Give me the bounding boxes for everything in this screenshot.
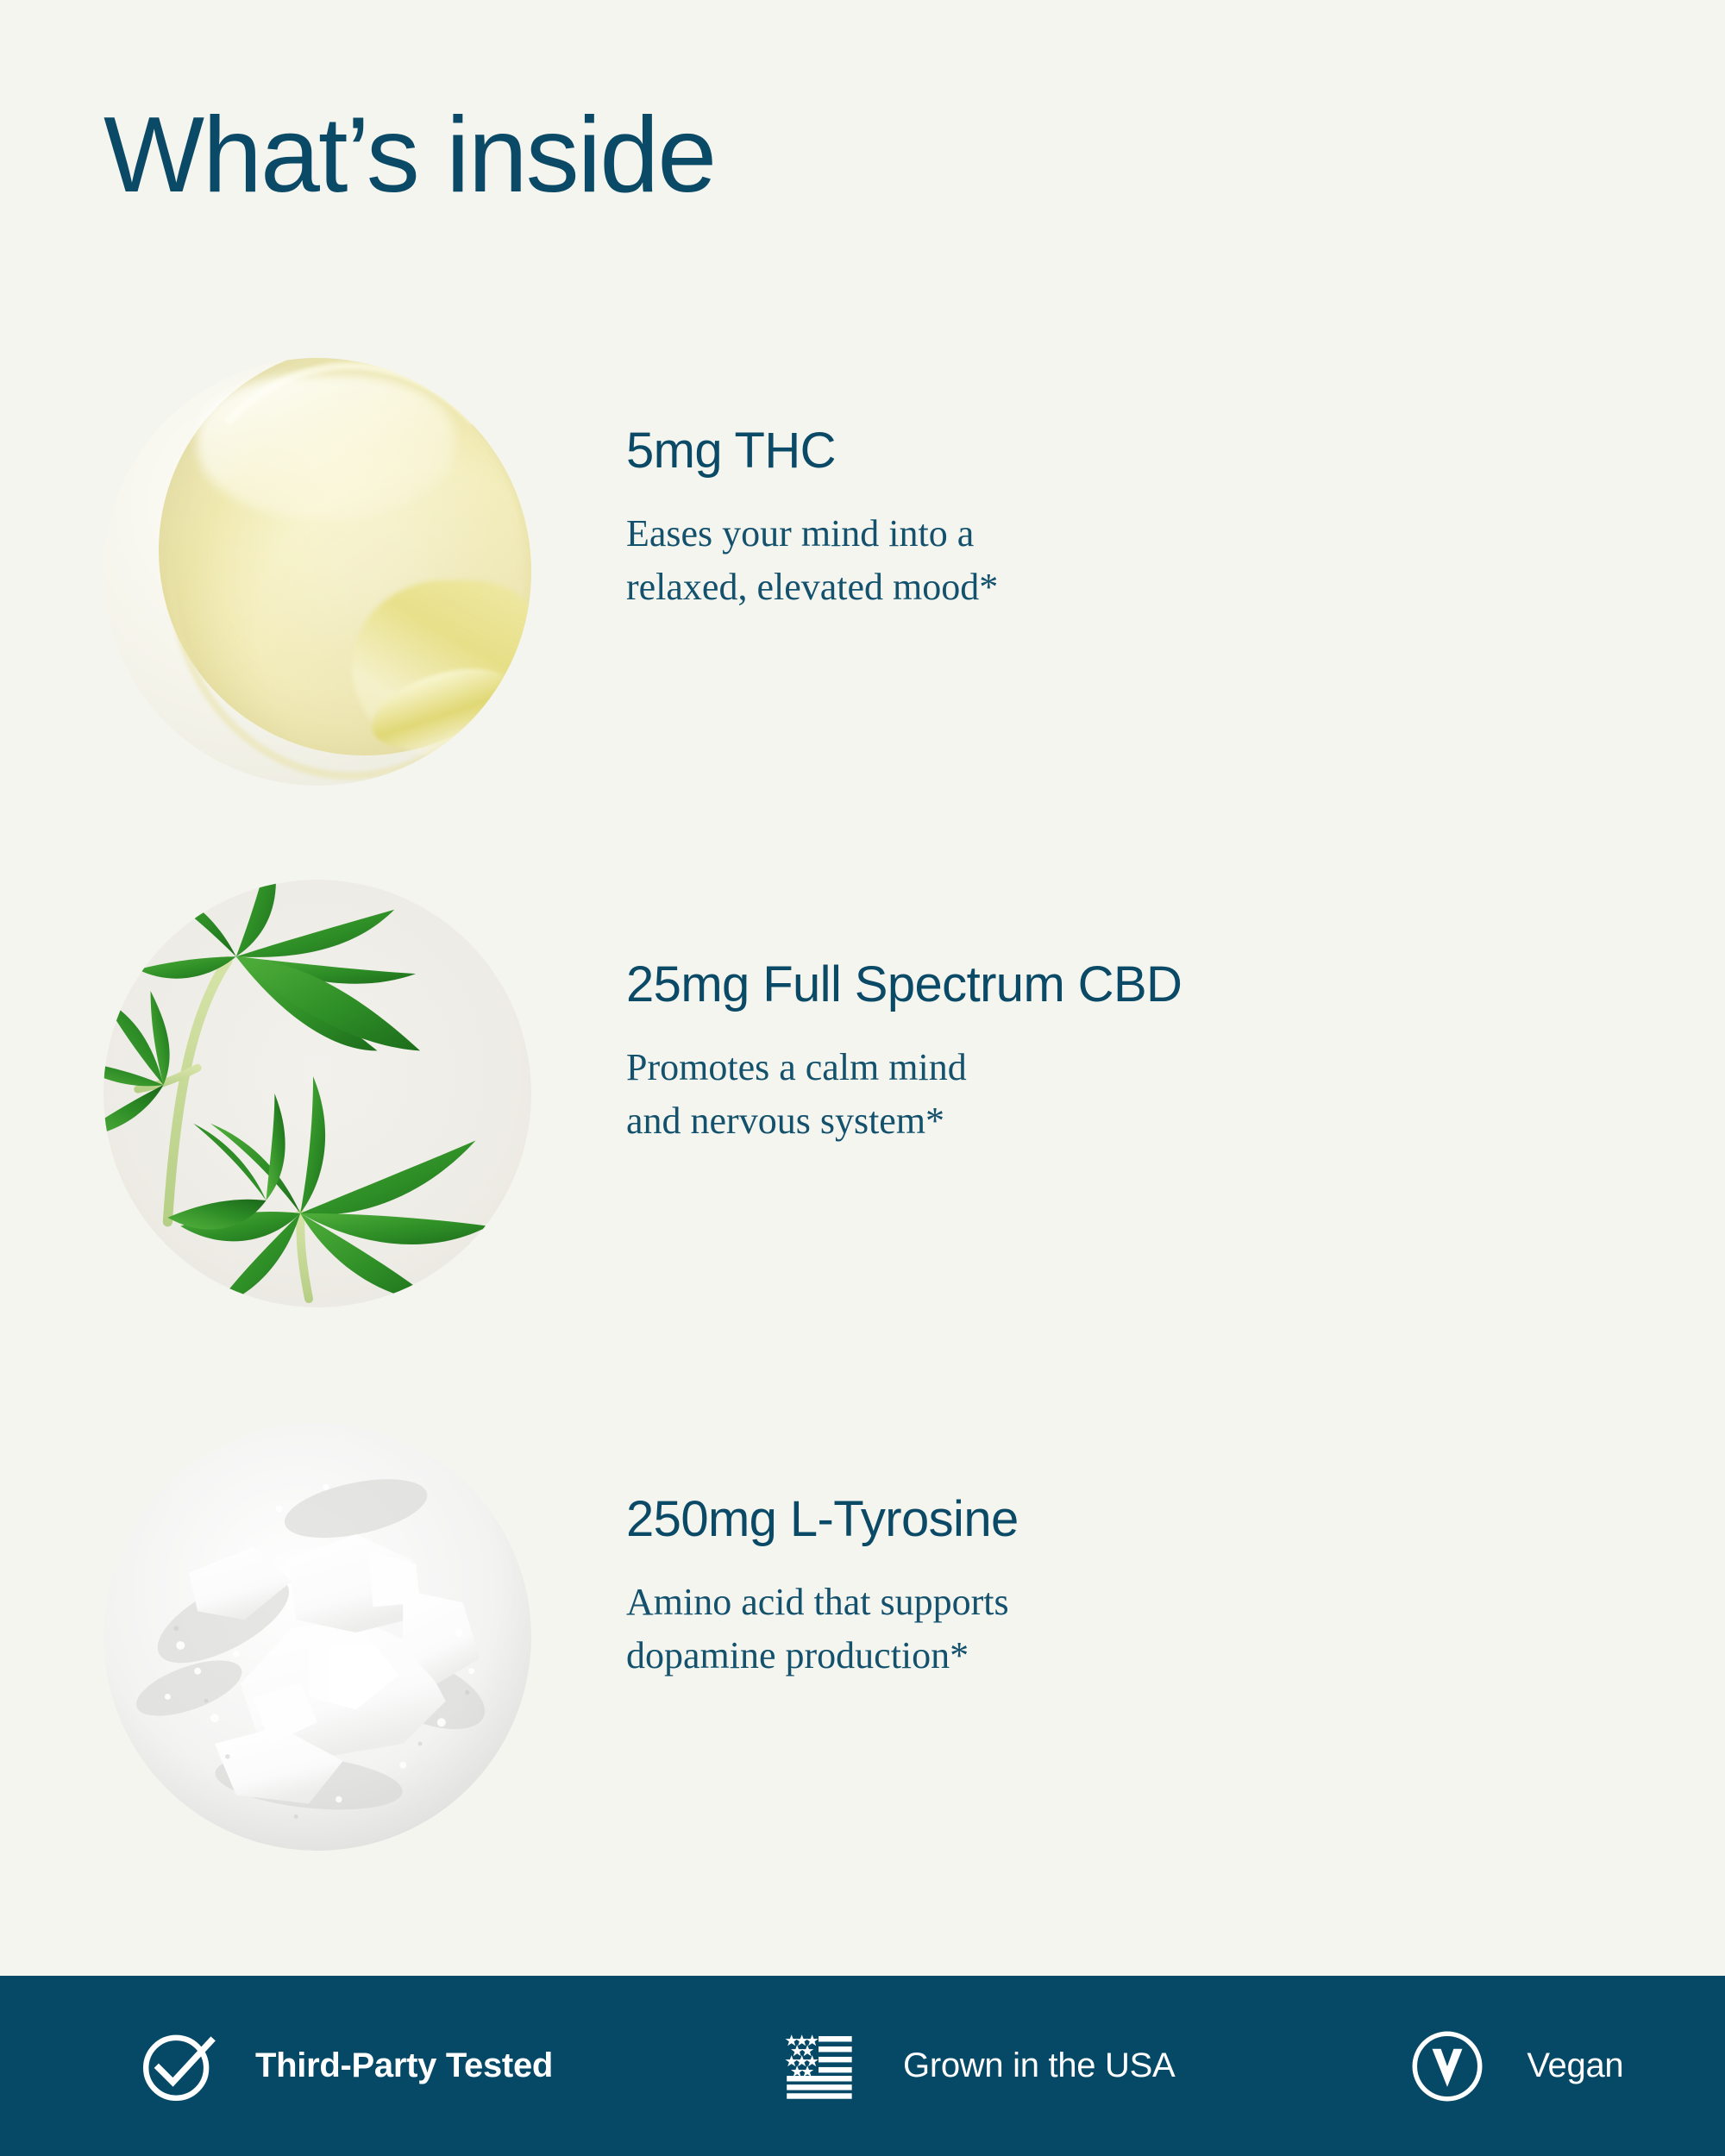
trust-badges-footer: Third-Party Tested (0, 1976, 1725, 2156)
ingredient-description: Amino acid that supports dopamine produc… (626, 1576, 1213, 1683)
ingredient-description: Promotes a calm mind and nervous system* (626, 1041, 1213, 1149)
page-title: What’s inside (103, 102, 715, 209)
ingredient-title: 5mg THC (626, 425, 1725, 478)
ingredient-title: 250mg L-Tyrosine (626, 1494, 1725, 1546)
ingredient-image-cbd (103, 880, 531, 1307)
cannabis-leaves-photo (103, 880, 531, 1307)
ingredient-title: 25mg Full Spectrum CBD (626, 959, 1725, 1012)
ingredient-image-thc (103, 358, 531, 786)
badge-vegan: Vegan (1408, 2027, 1623, 2106)
ingredient-text-cbd: 25mg Full Spectrum CBD Promotes a calm m… (626, 880, 1725, 1149)
oil-droplet-photo (103, 358, 531, 786)
badge-label: Third-Party Tested (255, 2046, 553, 2085)
badge-label: Vegan (1527, 2046, 1623, 2085)
whats-inside-panel: What’s inside 5mg THC Eases your mind in… (0, 0, 1725, 2156)
badge-grown-in-usa: Grown in the USA (779, 2027, 1175, 2106)
ingredient-row: 25mg Full Spectrum CBD Promotes a calm m… (0, 880, 1725, 1307)
ingredient-text-thc: 5mg THC Eases your mind into a relaxed, … (626, 358, 1725, 615)
powder-pile-illustration (103, 1423, 531, 1851)
ingredient-row: 5mg THC Eases your mind into a relaxed, … (0, 358, 1725, 786)
cannabis-leaf-illustration (103, 880, 531, 1307)
white-powder-photo (103, 1423, 531, 1851)
ingredient-image-l-tyrosine (103, 1423, 531, 1851)
ingredient-description: Eases your mind into a relaxed, elevated… (626, 507, 1213, 615)
ingredient-row: 250mg L-Tyrosine Amino acid that support… (0, 1423, 1725, 1851)
badge-label: Grown in the USA (903, 2046, 1175, 2085)
oil-droplet-highlight (198, 375, 455, 521)
vegan-v-circle-icon (1408, 2027, 1487, 2106)
check-circle-icon (138, 2027, 217, 2106)
ingredient-text-l-tyrosine: 250mg L-Tyrosine Amino acid that support… (626, 1423, 1725, 1683)
badge-third-party-tested: Third-Party Tested (138, 2027, 553, 2106)
usa-flag-icon (779, 2027, 858, 2106)
